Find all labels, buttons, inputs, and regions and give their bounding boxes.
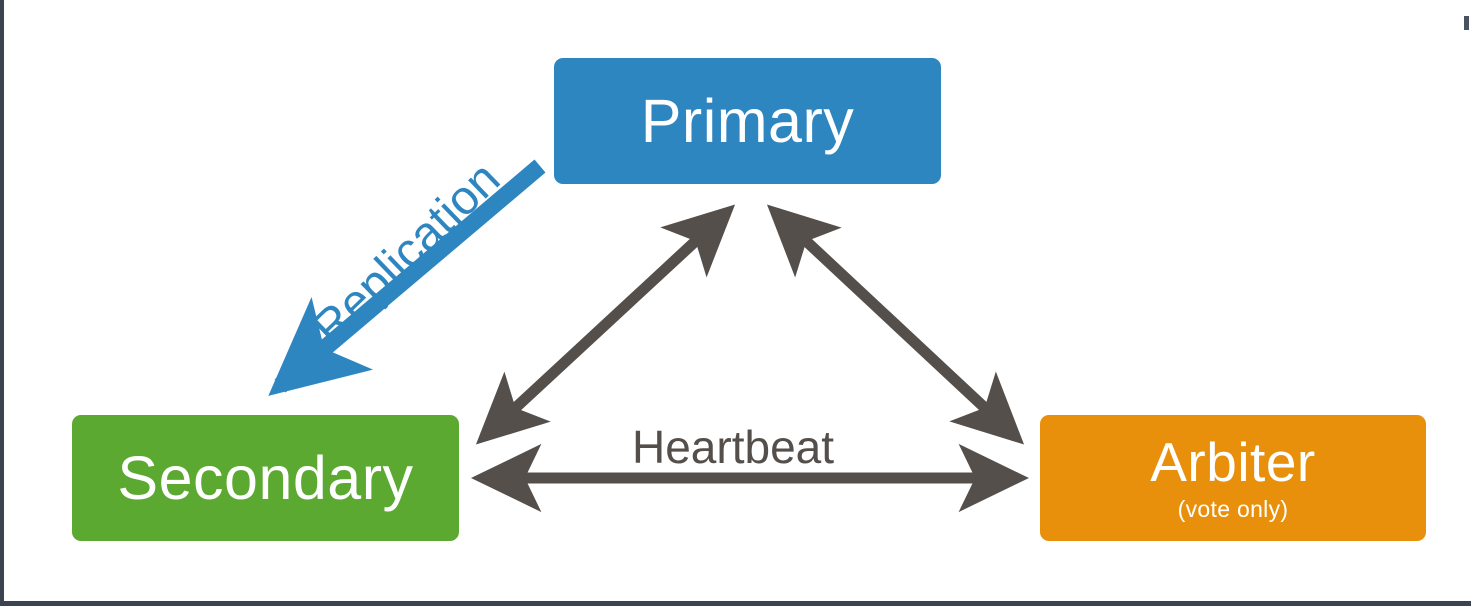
diagram-canvas: Primary Secondary Arbiter (vote only) Re… <box>0 0 1471 606</box>
node-secondary-label: Secondary <box>117 448 413 509</box>
edge-heartbeat-primary-arbiter <box>775 212 1016 437</box>
edge-label-heartbeat: Heartbeat <box>632 424 834 470</box>
node-primary-label: Primary <box>641 91 855 152</box>
node-arbiter[interactable]: Arbiter (vote only) <box>1040 415 1426 541</box>
node-arbiter-sublabel: (vote only) <box>1178 498 1289 521</box>
node-secondary[interactable]: Secondary <box>72 415 459 541</box>
node-arbiter-label: Arbiter <box>1150 435 1316 490</box>
node-primary[interactable]: Primary <box>554 58 941 184</box>
edge-heartbeat-secondary-primary <box>484 212 727 437</box>
